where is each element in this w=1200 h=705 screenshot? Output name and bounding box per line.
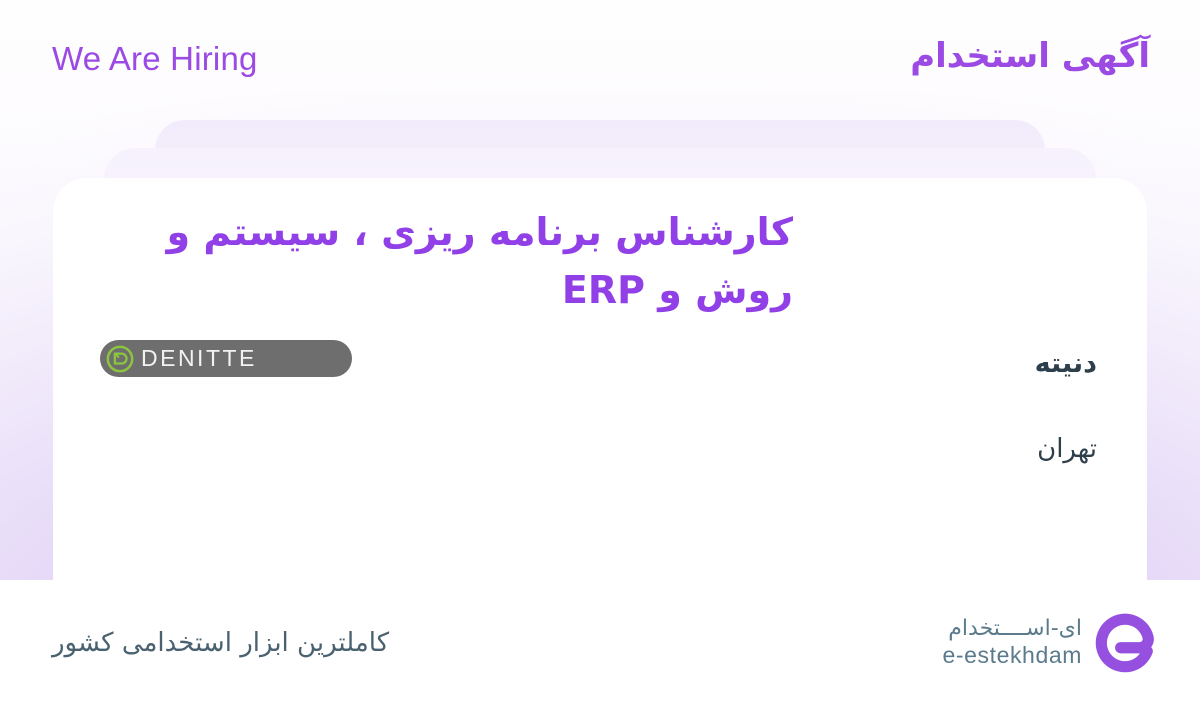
site-brand: ای-اســــتخدام e-estekhdam: [942, 612, 1156, 674]
footer-tagline: کاملترین ابزار استخدامی کشور: [52, 628, 389, 658]
site-brand-name-en: e-estekhdam: [942, 642, 1082, 669]
job-ad-poster: We Are Hiring آگهی استخدام کارشناس برنام…: [0, 0, 1200, 705]
denitte-mark-icon: [105, 344, 135, 374]
poster-header: We Are Hiring آگهی استخدام: [0, 0, 1200, 118]
site-brand-text: ای-اســــتخدام e-estekhdam: [942, 616, 1082, 668]
employer-logo: DENITTE: [100, 340, 352, 377]
hiring-label-en: We Are Hiring: [52, 40, 258, 78]
job-title: کارشناس برنامه ریزی ، سیستم و روش و ERP: [93, 204, 793, 320]
site-brand-name-fa: ای-اســــتخدام: [948, 616, 1082, 642]
poster-footer: کاملترین ابزار استخدامی کشور ای-اســــتخ…: [0, 580, 1200, 705]
e-estekhdam-logo-icon: [1094, 612, 1156, 674]
employer-wordmark: DENITTE: [141, 347, 257, 370]
job-location: تهران: [93, 434, 1097, 464]
job-card-content: کارشناس برنامه ریزی ، سیستم و روش و ERP …: [53, 178, 1147, 580]
hiring-label-fa: آگهی استخدام: [910, 36, 1150, 76]
